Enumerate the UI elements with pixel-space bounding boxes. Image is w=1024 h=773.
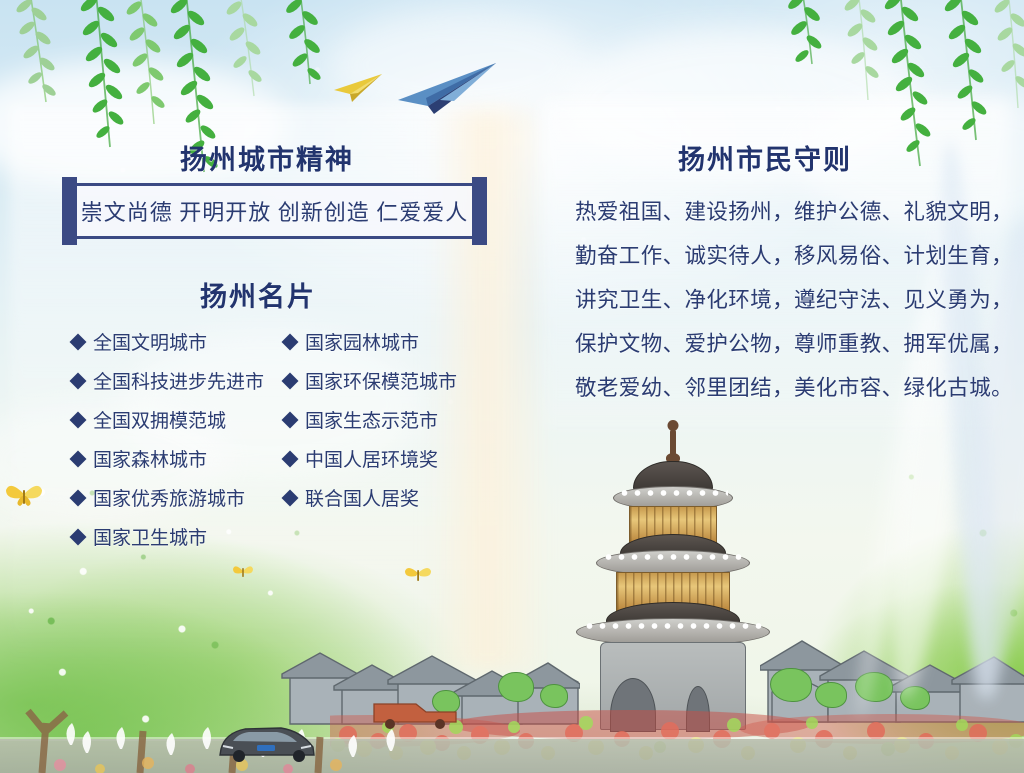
citizen-code-line: 讲究卫生、净化环境，遵纪守法、见义勇为，: [575, 278, 985, 322]
citizen-code-line: 热爱祖国、建设扬州，维护公德、礼貌文明，: [575, 190, 985, 234]
list-item-label: 国家园林城市: [305, 328, 419, 355]
list-item-label: 全国文明城市: [93, 328, 207, 355]
list-item: 国家环保模范城市: [284, 361, 504, 400]
citizen-code-line: 保护文物、爱护公物，尊师重教、拥军优属，: [575, 322, 985, 366]
section-title-city-cards: 扬州名片: [200, 275, 316, 314]
city-spirit-banner: 崇文尚德 开明开放 创新创造 仁爱爱人: [62, 183, 487, 239]
banner-inner: 崇文尚德 开明开放 创新创造 仁爱爱人: [77, 186, 472, 236]
city-card-column-left: 全国文明城市 全国科技进步先进市 全国双拥模范城 国家森林城市 国家优秀旅游城市…: [72, 322, 292, 556]
yellow-butterfly: [404, 562, 432, 584]
list-item: 国家森林城市: [72, 439, 292, 478]
list-item: 全国科技进步先进市: [72, 361, 292, 400]
pagoda-lantern-beads: [583, 623, 763, 629]
yellow-butterfly: [232, 562, 254, 580]
list-item-label: 国家生态示范市: [305, 406, 438, 433]
diamond-bullet-icon: [70, 333, 87, 350]
list-item: 全国文明城市: [72, 322, 292, 361]
list-item: 国家优秀旅游城市: [72, 478, 292, 517]
diamond-bullet-icon: [70, 528, 87, 545]
blue-paper-plane: [392, 60, 498, 114]
diamond-bullet-icon: [282, 411, 299, 428]
diamond-bullet-icon: [70, 489, 87, 506]
diamond-bullet-icon: [70, 450, 87, 467]
citizen-code-line: 勤奋工作、诚实待人，移风易俗、计划生育，: [575, 234, 985, 278]
list-item: 国家园林城市: [284, 322, 504, 361]
list-item-label: 国家森林城市: [93, 445, 207, 472]
list-item-label: 中国人居环境奖: [305, 445, 438, 472]
citizen-code-line: 敬老爱幼、邻里团结，美化市容、绿化古城。: [575, 366, 985, 410]
pagoda-lantern-beads: [602, 554, 744, 560]
yellow-butterfly: [4, 478, 44, 508]
banner-bar-left: [62, 177, 77, 245]
wenchang-pavilion-pagoda: [548, 420, 798, 720]
yellow-paper-plane: [328, 72, 384, 104]
section-title-citizen-code: 扬州市民守则: [678, 138, 852, 177]
list-item-label: 全国双拥模范城: [93, 406, 226, 433]
list-item: 国家生态示范市: [284, 400, 504, 439]
diamond-bullet-icon: [282, 372, 299, 389]
list-item-label: 全国科技进步先进市: [93, 367, 264, 394]
citizen-code-body: 热爱祖国、建设扬州，维护公德、礼貌文明， 勤奋工作、诚实待人，移风易俗、计划生育…: [575, 190, 985, 410]
banner-rule-bottom: [69, 236, 480, 239]
diamond-bullet-icon: [282, 450, 299, 467]
poster-canvas: 扬州城市精神 崇文尚德 开明开放 创新创造 仁爱爱人 扬州名片 全国文明城市 全…: [0, 0, 1024, 773]
list-item: 中国人居环境奖: [284, 439, 504, 478]
banner-bar-right: [472, 177, 487, 245]
list-item: 联合国人居奖: [284, 478, 504, 517]
list-item: 国家卫生城市: [72, 517, 292, 556]
city-spirit-slogan: 崇文尚德 开明开放 创新创造 仁爱爱人: [81, 195, 469, 227]
city-card-column-right: 国家园林城市 国家环保模范城市 国家生态示范市 中国人居环境奖 联合国人居奖: [284, 322, 504, 517]
diamond-bullet-icon: [282, 489, 299, 506]
list-item-label: 国家卫生城市: [93, 523, 207, 550]
list-item-label: 联合国人居奖: [305, 484, 419, 511]
pagoda-lantern-beads: [618, 490, 728, 496]
list-item-label: 国家环保模范城市: [305, 367, 457, 394]
list-item: 全国双拥模范城: [72, 400, 292, 439]
diamond-bullet-icon: [282, 333, 299, 350]
page-title-city-spirit: 扬州城市精神: [180, 138, 354, 177]
list-item-label: 国家优秀旅游城市: [93, 484, 245, 511]
diamond-bullet-icon: [70, 372, 87, 389]
diamond-bullet-icon: [70, 411, 87, 428]
